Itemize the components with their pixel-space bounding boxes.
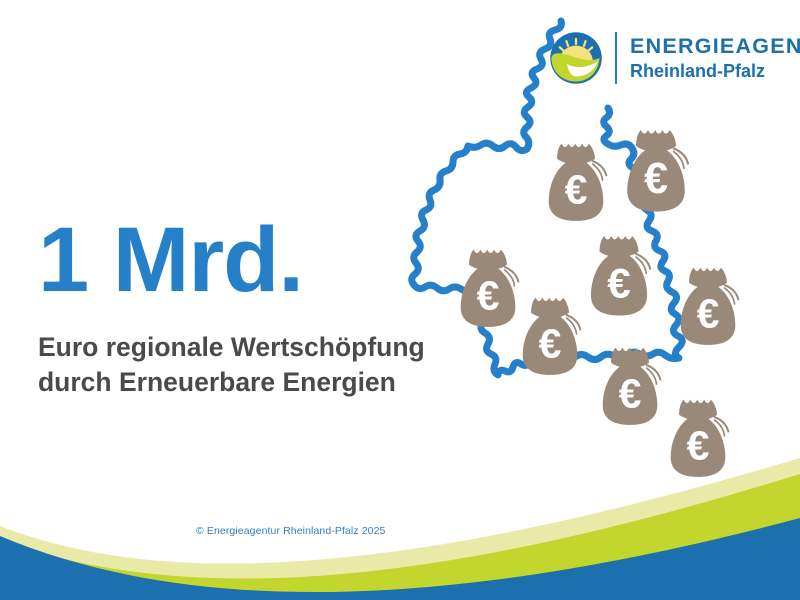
logo-title: ENERGIEAGENTUR	[630, 36, 800, 58]
infographic-canvas: ENERGIEAGENTUR Rheinland-Pfalz 1 Mrd. Eu…	[0, 0, 800, 600]
money-bag-center-west	[523, 298, 581, 375]
money-bag-north-east	[627, 130, 688, 212]
money-bag-group	[461, 130, 739, 477]
map-svg: €	[408, 100, 738, 500]
brand-logo[interactable]: ENERGIEAGENTUR Rheinland-Pfalz	[548, 26, 800, 90]
money-bag-center	[591, 236, 650, 316]
map-rheinland-pfalz: €	[408, 100, 738, 500]
headline-figure: 1 Mrd.	[38, 214, 303, 306]
money-bag-south-east	[671, 400, 729, 477]
logo-divider	[615, 32, 617, 84]
blue-wave	[0, 518, 800, 600]
money-bag-north-west	[549, 144, 607, 221]
copyright-notice: © Energieagentur Rheinland-Pfalz 2025	[196, 525, 385, 537]
money-bag-east	[681, 268, 739, 345]
subheadline-text: Euro regionale Wertschöpfung durch Erneu…	[38, 330, 425, 400]
logo-subtitle: Rheinland-Pfalz	[630, 62, 800, 80]
money-bag-south	[603, 348, 661, 425]
sun-over-hill-circle-icon	[548, 30, 604, 86]
money-bag-west	[461, 250, 519, 327]
logo-text-block: ENERGIEAGENTUR Rheinland-Pfalz	[630, 36, 800, 81]
